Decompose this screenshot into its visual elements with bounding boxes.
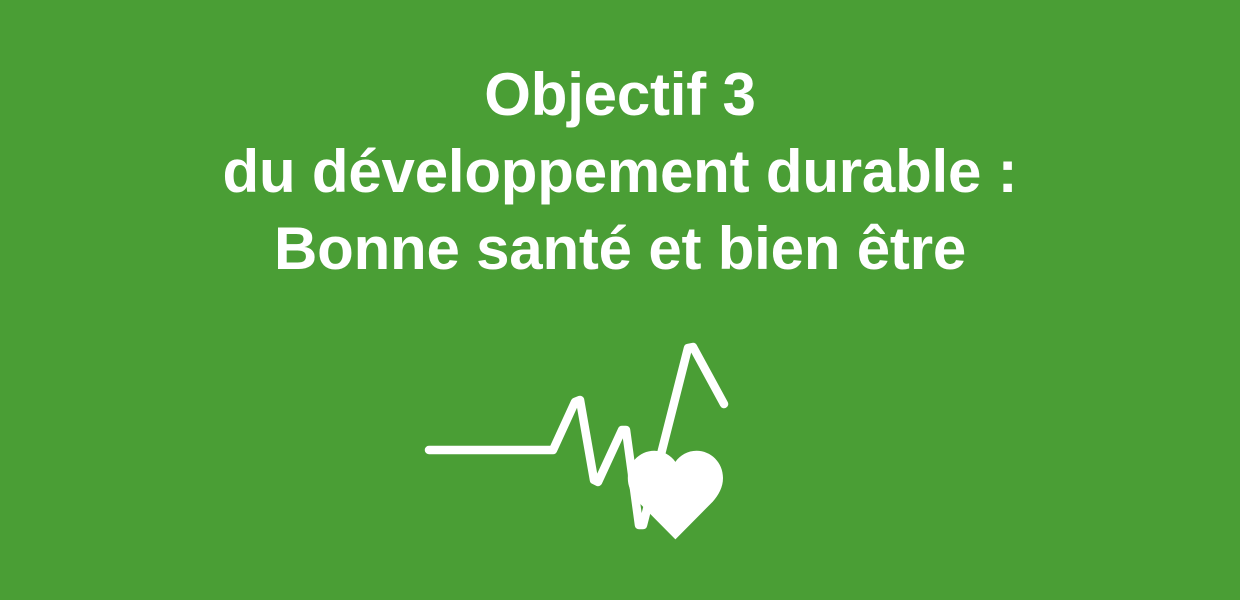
page-title-line-2: du développement durable : xyxy=(0,133,1240,210)
page-title-line-3: Bonne santé et bien être xyxy=(0,210,1240,287)
page-title: Objectif 3 du développement durable : Bo… xyxy=(0,56,1240,287)
heartbeat-graphic xyxy=(408,330,788,550)
page-title-line-1: Objectif 3 xyxy=(0,56,1240,133)
poster-canvas: Objectif 3 du développement durable : Bo… xyxy=(0,0,1240,600)
heartbeat-ecg-svg xyxy=(408,330,788,550)
